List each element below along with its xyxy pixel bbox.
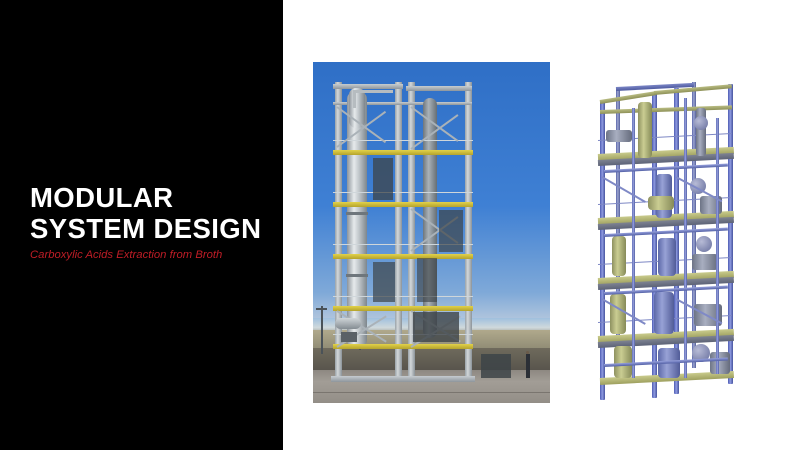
render-vessel-level-3b bbox=[658, 238, 676, 276]
render-equipment-level-1 bbox=[710, 352, 730, 374]
title-block: MODULAR SYSTEM DESIGN Carboxylic Acids E… bbox=[30, 182, 275, 263]
platform-level-3 bbox=[333, 254, 473, 259]
render-vessel-level-3 bbox=[612, 236, 626, 276]
render-header-pipe-2 bbox=[604, 228, 728, 237]
render-vessel-level-2b bbox=[654, 292, 674, 334]
top-beam-left bbox=[333, 84, 403, 89]
column-band-3 bbox=[346, 274, 368, 277]
title-panel: MODULAR SYSTEM DESIGN Carboxylic Acids E… bbox=[0, 0, 283, 450]
render-brace-1 bbox=[602, 176, 646, 203]
utility-pole-arm bbox=[316, 308, 327, 310]
modular-process-plant-photograph bbox=[313, 62, 550, 403]
overhead-pipe-bend bbox=[353, 90, 393, 93]
render-drum-level-4 bbox=[648, 196, 674, 210]
render-riser-pipe-1 bbox=[632, 108, 635, 378]
skid-enclosure bbox=[413, 312, 459, 342]
handrail-level-2 bbox=[333, 296, 473, 297]
platform-level-1 bbox=[333, 344, 473, 349]
render-equipment-level-3 bbox=[692, 254, 718, 270]
process-equipment-mid bbox=[439, 210, 463, 252]
render-pump-skid-top bbox=[606, 130, 632, 142]
render-vessel-level-2 bbox=[610, 294, 626, 334]
gravel-ground bbox=[313, 370, 550, 403]
pump-skid bbox=[341, 332, 357, 342]
render-column-front-left bbox=[600, 100, 605, 400]
render-vertical-vessel-top bbox=[638, 102, 652, 158]
page-title-line-1: MODULAR bbox=[30, 182, 275, 213]
platform-level-4 bbox=[333, 202, 473, 207]
worker-head bbox=[526, 351, 529, 354]
ground-texture-line bbox=[313, 392, 550, 393]
frame-column-2 bbox=[395, 82, 402, 381]
render-heat-exchanger-1 bbox=[694, 116, 708, 130]
process-equipment-lower bbox=[373, 262, 395, 302]
top-beam-right bbox=[406, 86, 472, 91]
process-equipment-base bbox=[417, 258, 437, 302]
utility-pole-left bbox=[321, 306, 323, 354]
page-title-line-2: SYSTEM DESIGN bbox=[30, 213, 275, 244]
render-header-pipe-1 bbox=[604, 164, 728, 173]
render-riser-pipe-2 bbox=[684, 98, 687, 378]
render-heat-exchanger-3 bbox=[696, 236, 712, 252]
frame-column-4 bbox=[465, 82, 472, 381]
handrail-level-5 bbox=[333, 140, 473, 141]
worker-figure bbox=[526, 354, 530, 378]
handrail-level-4 bbox=[333, 192, 473, 193]
platform-level-2 bbox=[333, 306, 473, 311]
base-beam bbox=[331, 376, 475, 382]
ground-unit bbox=[481, 354, 511, 378]
modular-skid-3d-cad-render bbox=[596, 78, 738, 400]
horizontal-drum bbox=[335, 318, 361, 329]
slide: MODULAR SYSTEM DESIGN Carboxylic Acids E… bbox=[0, 0, 800, 450]
column-band-2 bbox=[346, 212, 368, 215]
page-subtitle: Carboxylic Acids Extraction from Broth bbox=[30, 249, 245, 263]
render-riser-pipe-3 bbox=[716, 118, 719, 374]
process-equipment-upper bbox=[373, 158, 393, 200]
platform-level-5 bbox=[333, 150, 473, 155]
